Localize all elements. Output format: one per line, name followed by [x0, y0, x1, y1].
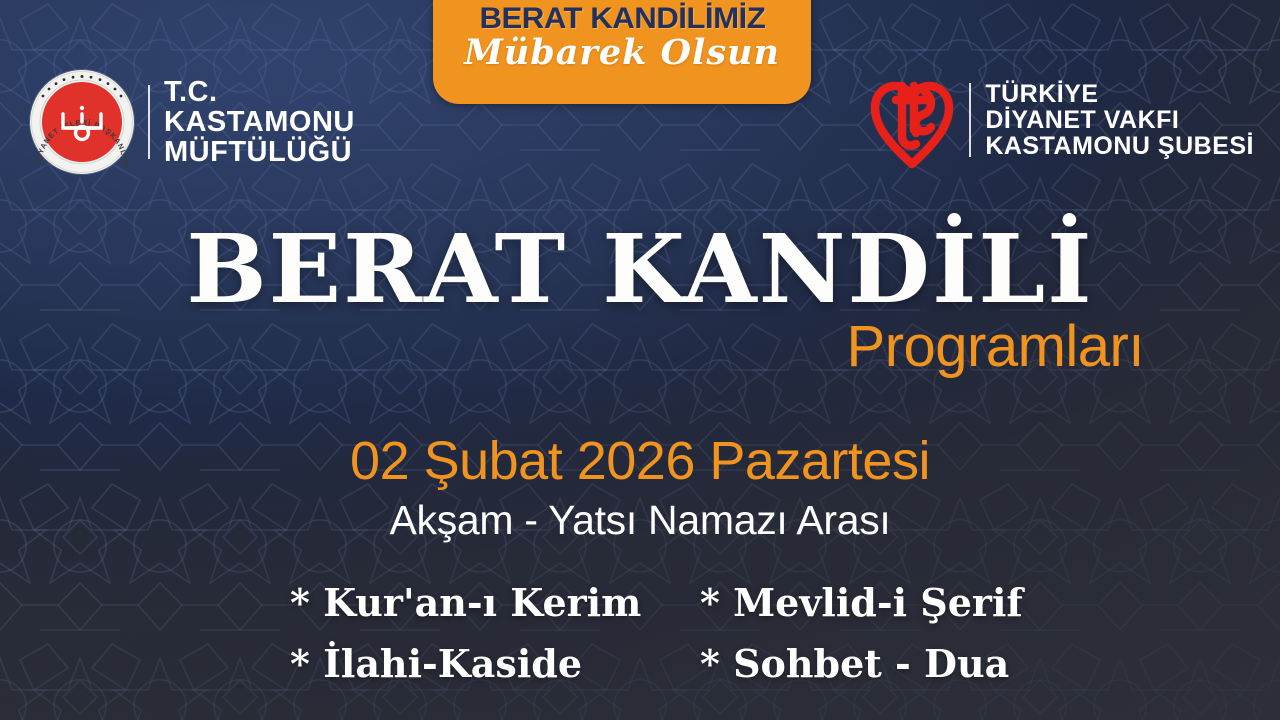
logo-divider [969, 83, 971, 157]
logo-divider [148, 85, 150, 159]
tdv-line-1: TÜRKİYE [985, 81, 1254, 107]
mufti-line-1: T.C. [164, 77, 355, 107]
tdv-logo-block: TÜRKİYE DİYANET VAKFI KASTAMONU ŞUBESİ [869, 70, 1254, 170]
tdv-line-3: KASTAMONU ŞUBESİ [985, 133, 1254, 159]
diyanet-seal-icon: DİYANET İŞLERİ BAŞKANLIĞI [30, 70, 134, 174]
tdv-heart-icon [869, 70, 955, 170]
event-date: 02 Şubat 2026 Pazartesi [0, 434, 1280, 488]
tdv-branch-name: TÜRKİYE DİYANET VAKFI KASTAMONU ŞUBESİ [985, 81, 1254, 159]
poster-subtitle: Programları [0, 318, 1144, 376]
tdv-line-2: DİYANET VAKFI [985, 107, 1254, 133]
mufti-line-3: MÜFTÜLÜĞÜ [164, 137, 355, 167]
program-item: * İlahi-Kaside [290, 643, 700, 684]
poster-canvas: BERAT KANDİLİMİZ Mübarek Olsun DİYANET İ… [0, 0, 1280, 720]
greeting-line-2: Mübarek Olsun [464, 32, 780, 73]
poster-title: BERAT KANDİLİ [0, 222, 1280, 317]
seal-ring-detail: DİYANET İŞLERİ BAŞKANLIĞI [30, 70, 134, 174]
greeting-banner: BERAT KANDİLİMİZ Mübarek Olsun [433, 0, 811, 104]
program-items-list: * Kur'an-ı Kerim * Mevlid-i Şerif * İlah… [290, 582, 1010, 684]
greeting-line-1: BERAT KANDİLİMİZ [479, 2, 765, 36]
program-item: * Mevlid-i Şerif [700, 582, 1010, 623]
mufti-office-name: T.C. KASTAMONU MÜFTÜLÜĞÜ [164, 77, 355, 167]
mufti-office-logo-block: DİYANET İŞLERİ BAŞKANLIĞI [30, 70, 355, 174]
program-item: * Kur'an-ı Kerim [290, 582, 700, 623]
program-item: * Sohbet - Dua [700, 643, 1010, 684]
mufti-line-2: KASTAMONU [164, 107, 355, 137]
event-time-range: Akşam - Yatsı Namazı Arası [0, 500, 1280, 541]
